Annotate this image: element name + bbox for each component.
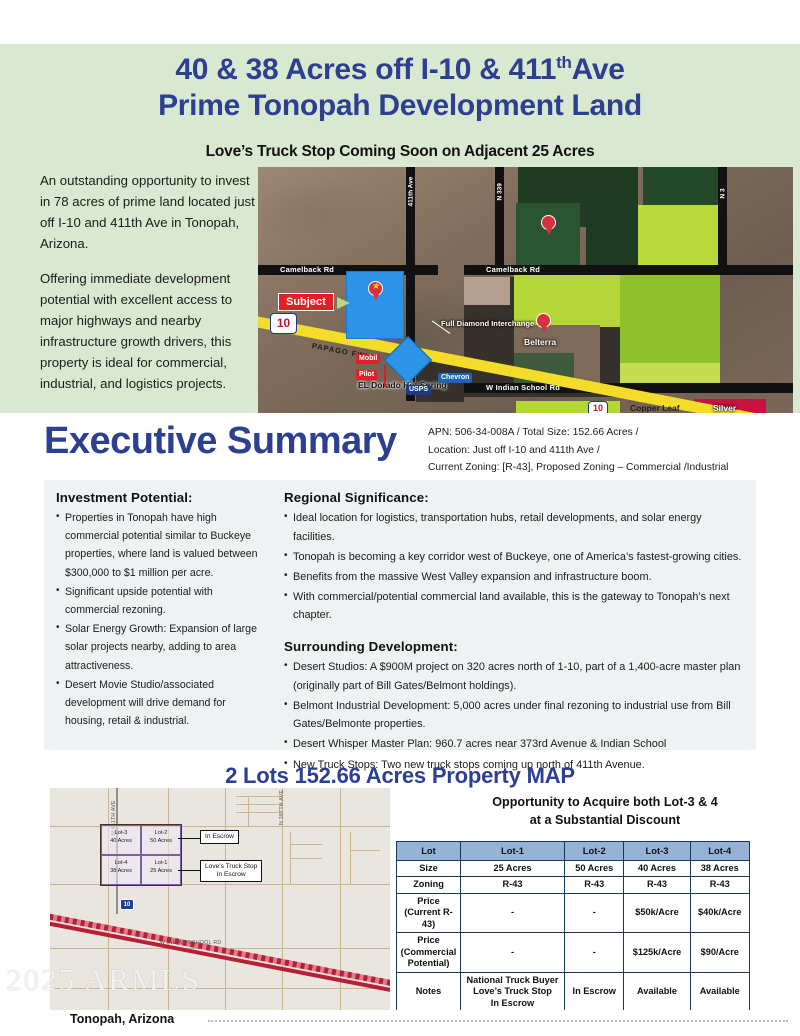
pin-generic-icon	[541, 215, 556, 236]
list-item: With commercial/potential commercial lan…	[284, 588, 744, 625]
lot-box-lot-1[interactable]: Lot-1 25 Acres	[141, 855, 181, 885]
table-row: Notes National Truck Buyer Love’s Truck …	[397, 972, 750, 1012]
row-label-price-current: Price (Current R-43)	[397, 893, 461, 933]
road-camelback-right-label: Camelback Rd	[464, 265, 540, 274]
interchange-callout: Full Diamond Interchange	[441, 319, 534, 328]
list-item: Desert Whisper Master Plan: 960.7 acres …	[284, 735, 744, 754]
interstate-10-shield-bottom: 10	[588, 401, 608, 413]
lot-4-name: Lot-4	[102, 860, 140, 868]
map-dark-parcel-notch	[464, 277, 510, 305]
row-label-price-commercial-line-1: Price	[398, 935, 459, 947]
flyer-page: 40 & 38 Acres off I-10 & 411thAve Prime …	[0, 0, 800, 1036]
road-n3-label: N 3	[720, 171, 727, 199]
lot-box-lot-3[interactable]: Lot-3 40 Acres	[101, 825, 141, 855]
table-row: Price (Current R-43) - - $50k/Acre $40k/…	[397, 893, 750, 933]
row-label-price-commercial-line-3: Potential)	[398, 958, 459, 970]
executive-summary-meta: APN: 506-34-008A / Total Size: 152.66 Ac…	[428, 424, 768, 477]
subject-tag: Subject	[278, 293, 334, 311]
lot-1-size: 25 Acres	[142, 868, 180, 876]
row-label-price-current-line-1: Price	[398, 896, 459, 908]
lot-3-size: 40 Acres	[102, 838, 140, 846]
lot-4-size: 38 Acres	[102, 868, 140, 876]
lot-3-name: Lot-3	[102, 830, 140, 838]
column-header-lot-1: Lot-1	[461, 842, 565, 861]
row-label-price-current-line-2: (Current R-43)	[398, 907, 459, 930]
page-title: 40 & 38 Acres off I-10 & 411thAve Prime …	[0, 52, 800, 124]
road-camelback-right: Camelback Rd	[464, 265, 793, 275]
header-subtitle: Love’s Truck Stop Coming Soon on Adjacen…	[0, 143, 800, 161]
brand-mobil-icon: Mobil	[356, 354, 380, 364]
callout-loves-line-2: In Escrow	[205, 871, 257, 879]
cell-zoning-lot-3: R-43	[624, 877, 690, 894]
cell-notes-lot-1: National Truck Buyer Love’s Truck Stop I…	[461, 972, 565, 1012]
title-line-2: Prime Tonopah Development Land	[0, 88, 800, 124]
investment-potential-panel: Investment Potential: Properties in Tono…	[44, 480, 272, 750]
opportunity-text: Opportunity to Acquire both Lot-3 & 4 at…	[420, 793, 790, 829]
cell-notes-lot-3: Available	[624, 972, 690, 1012]
cell-size-lot-4: 38 Acres	[690, 860, 750, 877]
intro-text: An outstanding opportunity to invest in …	[40, 170, 258, 394]
row-label-price-commercial-line-2: (Commercial	[398, 947, 459, 959]
title-line-1: 40 & 38 Acres off I-10 & 411thAve	[0, 52, 800, 88]
footer-divider	[208, 1020, 788, 1022]
cell-zoning-lot-2: R-43	[565, 877, 624, 894]
cell-price-current-lot-3: $50k/Acre	[624, 893, 690, 933]
interstate-10-shield: 10	[270, 313, 297, 334]
column-header-lot: Lot	[397, 842, 461, 861]
satellite-map[interactable]: Camelback Rd Camelback Rd W Indian Schoo…	[258, 167, 793, 413]
investment-potential-heading: Investment Potential:	[56, 490, 260, 505]
title-ordinal-suffix: th	[556, 53, 571, 72]
road-indian-school-label: W Indian School Rd	[464, 383, 560, 392]
label-silver: Silver	[713, 403, 736, 413]
list-item: Significant upside potential with commer…	[56, 583, 260, 619]
lot-2-name: Lot-2	[142, 830, 180, 838]
list-item: Solar Energy Growth: Expansion of large …	[56, 620, 260, 675]
table-row: Price (Commercial Potential) - - $125k/A…	[397, 933, 750, 973]
opportunity-line-2: at a Substantial Discount	[420, 811, 790, 829]
property-map-title: 2 Lots 152.66 Acres Property MAP	[0, 763, 800, 789]
surrounding-development-heading: Surrounding Development:	[284, 639, 744, 654]
meta-zoning: Current Zoning: [R-43], Proposed Zoning …	[428, 459, 768, 477]
title-line-1-pre: 40 & 38 Acres off I-10 & 411	[175, 53, 556, 86]
subject-star-pin-icon	[368, 281, 383, 302]
lot-1-name: Lot-1	[142, 860, 180, 868]
list-item: Benefits from the massive West Valley ex…	[284, 568, 744, 587]
cell-notes-lot-1-line-3: In Escrow	[462, 998, 563, 1010]
callout-in-escrow: In Escrow	[200, 830, 239, 844]
table-row: Zoning R-43 R-43 R-43 R-43	[397, 877, 750, 894]
list-item: Desert Movie Studio/associated developme…	[56, 676, 260, 731]
regional-and-surrounding-panel: Regional Significance: Ideal location fo…	[272, 480, 756, 750]
list-item: Properties in Tonopah have high commerci…	[56, 509, 260, 582]
table-row: Size 25 Acres 50 Acres 40 Acres 38 Acres	[397, 860, 750, 877]
regional-significance-heading: Regional Significance:	[284, 490, 744, 505]
subject-arrow-icon	[337, 297, 350, 309]
road-n339-label: N 339	[497, 173, 504, 201]
road-n339-ave: N 339	[495, 167, 504, 265]
list-item: Belmont Industrial Development: 5,000 ac…	[284, 697, 744, 734]
cell-price-commercial-lot-3: $125k/Acre	[624, 933, 690, 973]
map-field-5	[638, 205, 720, 267]
pin-belterra-icon	[536, 313, 551, 334]
meta-apn: APN: 506-34-008A / Total Size: 152.66 Ac…	[428, 424, 768, 442]
cell-notes-lot-1-line-1: National Truck Buyer	[462, 975, 563, 987]
cell-price-current-lot-2: -	[565, 893, 624, 933]
cell-price-current-lot-1: -	[461, 893, 565, 933]
parcel-interstate-shield: 10	[120, 899, 134, 910]
road-411th-ave-label: 411th Ave	[408, 179, 415, 207]
cell-price-commercial-lot-1: -	[461, 933, 565, 973]
lot-2-size: 50 Acres	[142, 838, 180, 846]
cell-zoning-lot-1: R-43	[461, 877, 565, 894]
brand-chevron-icon: Chevron	[438, 373, 472, 383]
row-label-notes: Notes	[397, 972, 461, 1012]
investment-potential-list: Properties in Tonopah have high commerci…	[56, 509, 260, 730]
row-label-zoning: Zoning	[397, 877, 461, 894]
list-item: Ideal location for logistics, transporta…	[284, 509, 744, 546]
meta-location: Location: Just off I-10 and 411th Ave /	[428, 442, 768, 460]
opportunity-line-1: Opportunity to Acquire both Lot-3 & 4	[420, 793, 790, 811]
label-belterra: Belterra	[524, 337, 556, 347]
road-n3-ave: N 3	[718, 167, 727, 265]
lot-box-lot-2[interactable]: Lot-2 50 Acres	[141, 825, 181, 855]
pricing-table[interactable]: Lot Lot-1 Lot-2 Lot-3 Lot-4 Size 25 Acre…	[396, 841, 750, 1012]
column-header-lot-3: Lot-3	[624, 842, 690, 861]
parcel-387th-ave-label: N 387TH AVE	[279, 790, 285, 825]
title-line-1-post: Ave	[572, 53, 625, 86]
cell-price-commercial-lot-2: -	[565, 933, 624, 973]
parcel-indian-school-label: W INDIAN SCHOOL RD	[160, 940, 221, 946]
interchange-callout-label: Full Diamond Interchange	[441, 319, 534, 328]
label-el-dorado: EL Dorado Hot Spring	[358, 381, 447, 390]
cell-size-lot-3: 40 Acres	[624, 860, 690, 877]
row-label-price-commercial: Price (Commercial Potential)	[397, 933, 461, 973]
cell-price-commercial-lot-4: $90/Acre	[690, 933, 750, 973]
intro-paragraph-1: An outstanding opportunity to invest in …	[40, 170, 258, 254]
cell-notes-lot-2: In Escrow	[565, 972, 624, 1012]
cell-notes-lot-1-line-2: Love’s Truck Stop	[462, 986, 563, 998]
column-header-lot-2: Lot-2	[565, 842, 624, 861]
column-header-lot-4: Lot-4	[690, 842, 750, 861]
executive-summary-heading: Executive Summary	[44, 420, 397, 463]
label-copper-leaf-2: Copper Leaf	[630, 403, 680, 413]
list-item: Tonopah is becoming a key corridor west …	[284, 548, 744, 567]
cell-zoning-lot-4: R-43	[690, 877, 750, 894]
road-camelback-left-label: Camelback Rd	[258, 265, 334, 274]
escrow-leader-line	[178, 838, 200, 839]
cell-size-lot-2: 50 Acres	[565, 860, 624, 877]
brand-usps-icon: USPS	[406, 385, 431, 395]
regional-significance-list: Ideal location for logistics, transporta…	[284, 509, 744, 625]
table-header-row: Lot Lot-1 Lot-2 Lot-3 Lot-4	[397, 842, 750, 861]
cell-notes-lot-4: Available	[690, 972, 750, 1012]
cell-price-current-lot-4: $40k/Acre	[690, 893, 750, 933]
list-item: Desert Studios: A $900M project on 320 a…	[284, 658, 744, 695]
surrounding-development-list: Desert Studios: A $900M project on 320 a…	[284, 658, 744, 774]
brand-pilot-icon: Pilot	[356, 370, 377, 380]
intro-paragraph-2: Offering immediate development potential…	[40, 268, 258, 394]
armls-watermark: 2025 ARMLS	[6, 962, 201, 998]
access-road-marker	[384, 365, 386, 387]
lot-box-lot-4[interactable]: Lot-4 38 Acres	[101, 855, 141, 885]
callout-loves-line-1: Love’s Truck Stop	[205, 863, 257, 871]
row-label-size: Size	[397, 860, 461, 877]
footer-location: Tonopah, Arizona	[70, 1012, 174, 1026]
cell-size-lot-1: 25 Acres	[461, 860, 565, 877]
loves-leader-line	[178, 870, 200, 871]
callout-loves-truck-stop: Love’s Truck Stop In Escrow	[200, 860, 262, 882]
